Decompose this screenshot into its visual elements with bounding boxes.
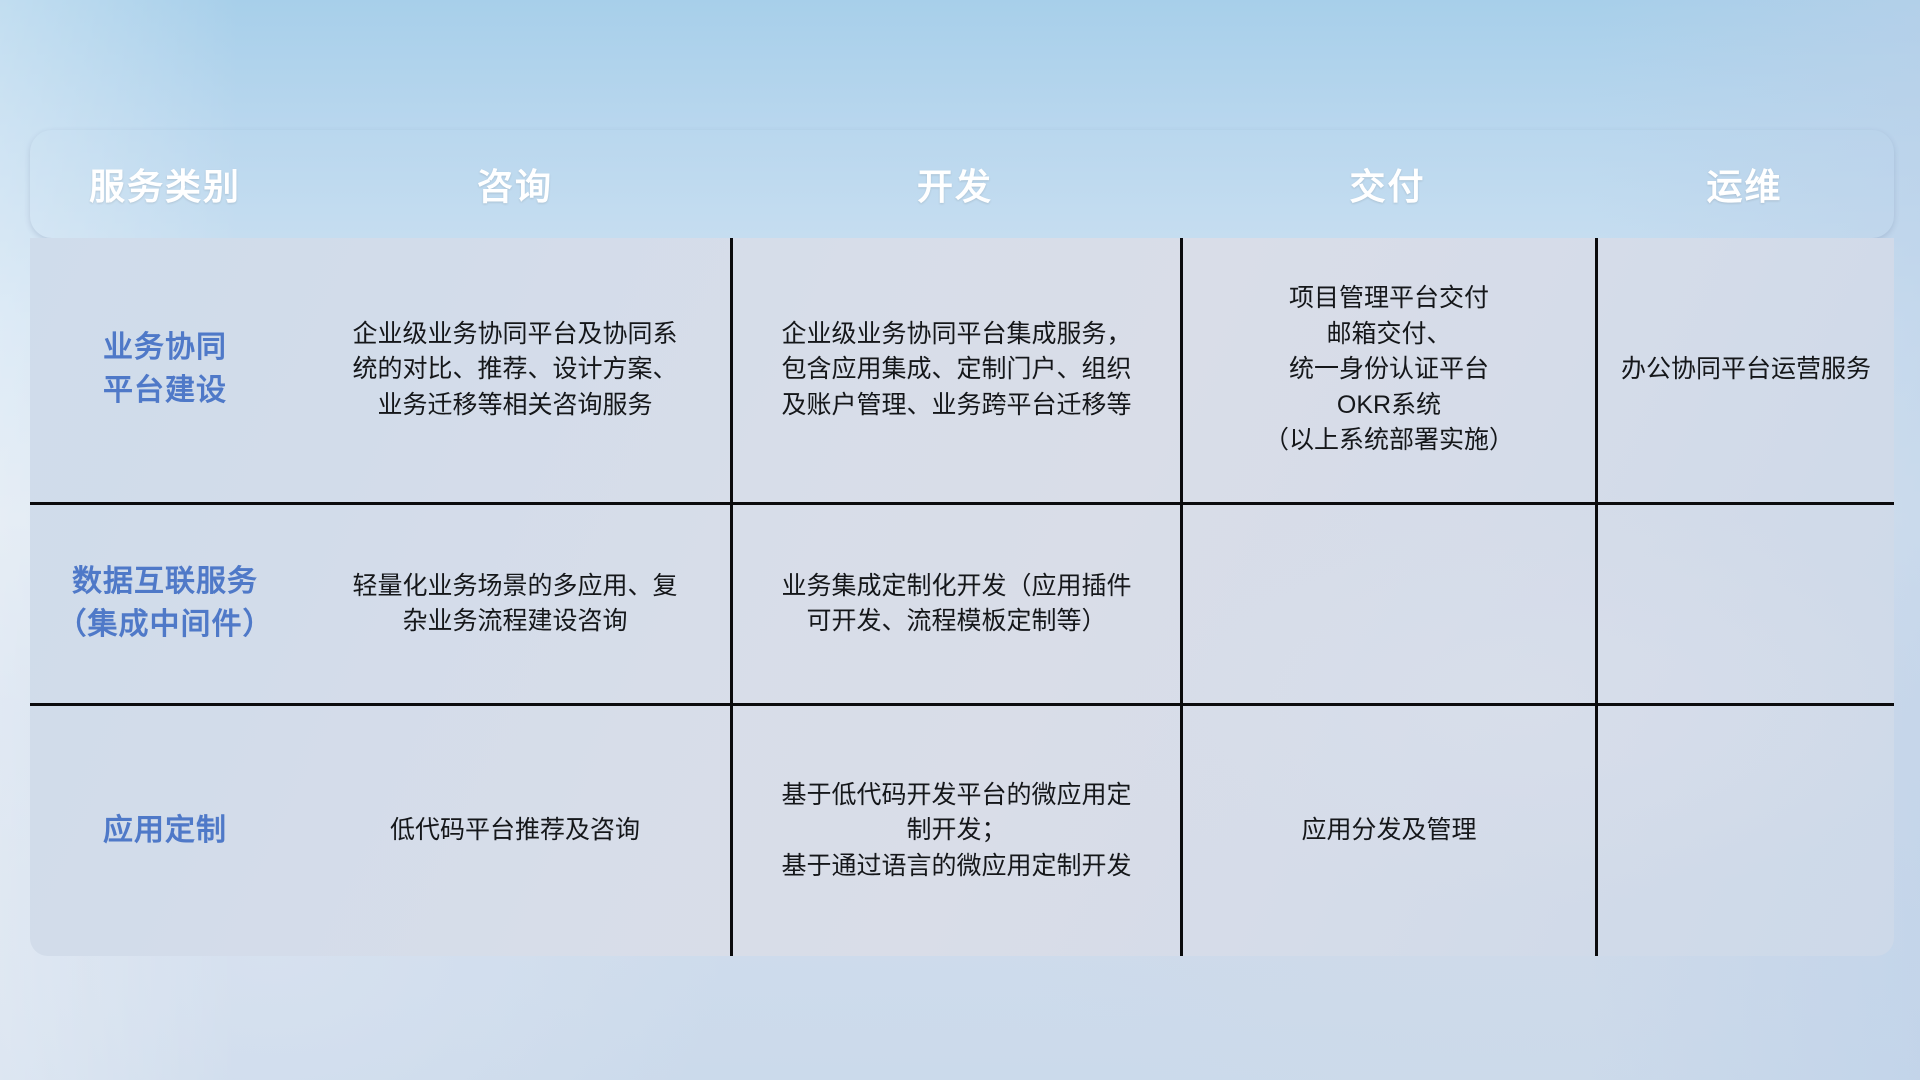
cell-development: 企业级业务协同平台集成服务， 包含应用集成、定制门户、组织 及账户管理、业务跨平… (730, 238, 1180, 502)
header-cell-consulting: 咨询 (300, 130, 730, 238)
row-category-label: 业务协同 平台建设 (30, 238, 300, 502)
cell-operations (1595, 706, 1894, 956)
cell-delivery: 应用分发及管理 (1180, 706, 1595, 956)
table-row: 数据互联服务 （集成中间件） 轻量化业务场景的多应用、复 杂业务流程建设咨询 业… (30, 502, 1894, 703)
cell-consulting: 轻量化业务场景的多应用、复 杂业务流程建设咨询 (300, 505, 730, 703)
table-row: 业务协同 平台建设 企业级业务协同平台及协同系 统的对比、推荐、设计方案、 业务… (30, 238, 1894, 502)
cell-development: 基于低代码开发平台的微应用定 制开发； 基于通过语言的微应用定制开发 (730, 706, 1180, 956)
header-cell-operations: 运维 (1595, 130, 1894, 238)
cell-delivery (1180, 505, 1595, 703)
header-cell-delivery: 交付 (1180, 130, 1595, 238)
service-category-table: 服务类别 咨询 开发 交付 运维 业务协同 平台建设 企业级业务协同平台及协同系… (30, 130, 1894, 956)
table-row: 应用定制 低代码平台推荐及咨询 基于低代码开发平台的微应用定 制开发； 基于通过… (30, 703, 1894, 956)
table-body: 业务协同 平台建设 企业级业务协同平台及协同系 统的对比、推荐、设计方案、 业务… (30, 238, 1894, 956)
row-category-label: 数据互联服务 （集成中间件） (30, 505, 300, 703)
cell-operations (1595, 505, 1894, 703)
cell-consulting: 企业级业务协同平台及协同系 统的对比、推荐、设计方案、 业务迁移等相关咨询服务 (300, 238, 730, 502)
header-cell-development: 开发 (730, 130, 1180, 238)
cell-consulting: 低代码平台推荐及咨询 (300, 706, 730, 956)
header-cell-category: 服务类别 (30, 130, 300, 238)
cell-delivery: 项目管理平台交付 邮箱交付、 统一身份认证平台 OKR系统 （以上系统部署实施） (1180, 238, 1595, 502)
cell-operations: 办公协同平台运营服务 (1595, 238, 1894, 502)
row-category-label: 应用定制 (30, 706, 300, 956)
table-header-row: 服务类别 咨询 开发 交付 运维 (30, 130, 1894, 238)
cell-development: 业务集成定制化开发（应用插件 可开发、流程模板定制等） (730, 505, 1180, 703)
